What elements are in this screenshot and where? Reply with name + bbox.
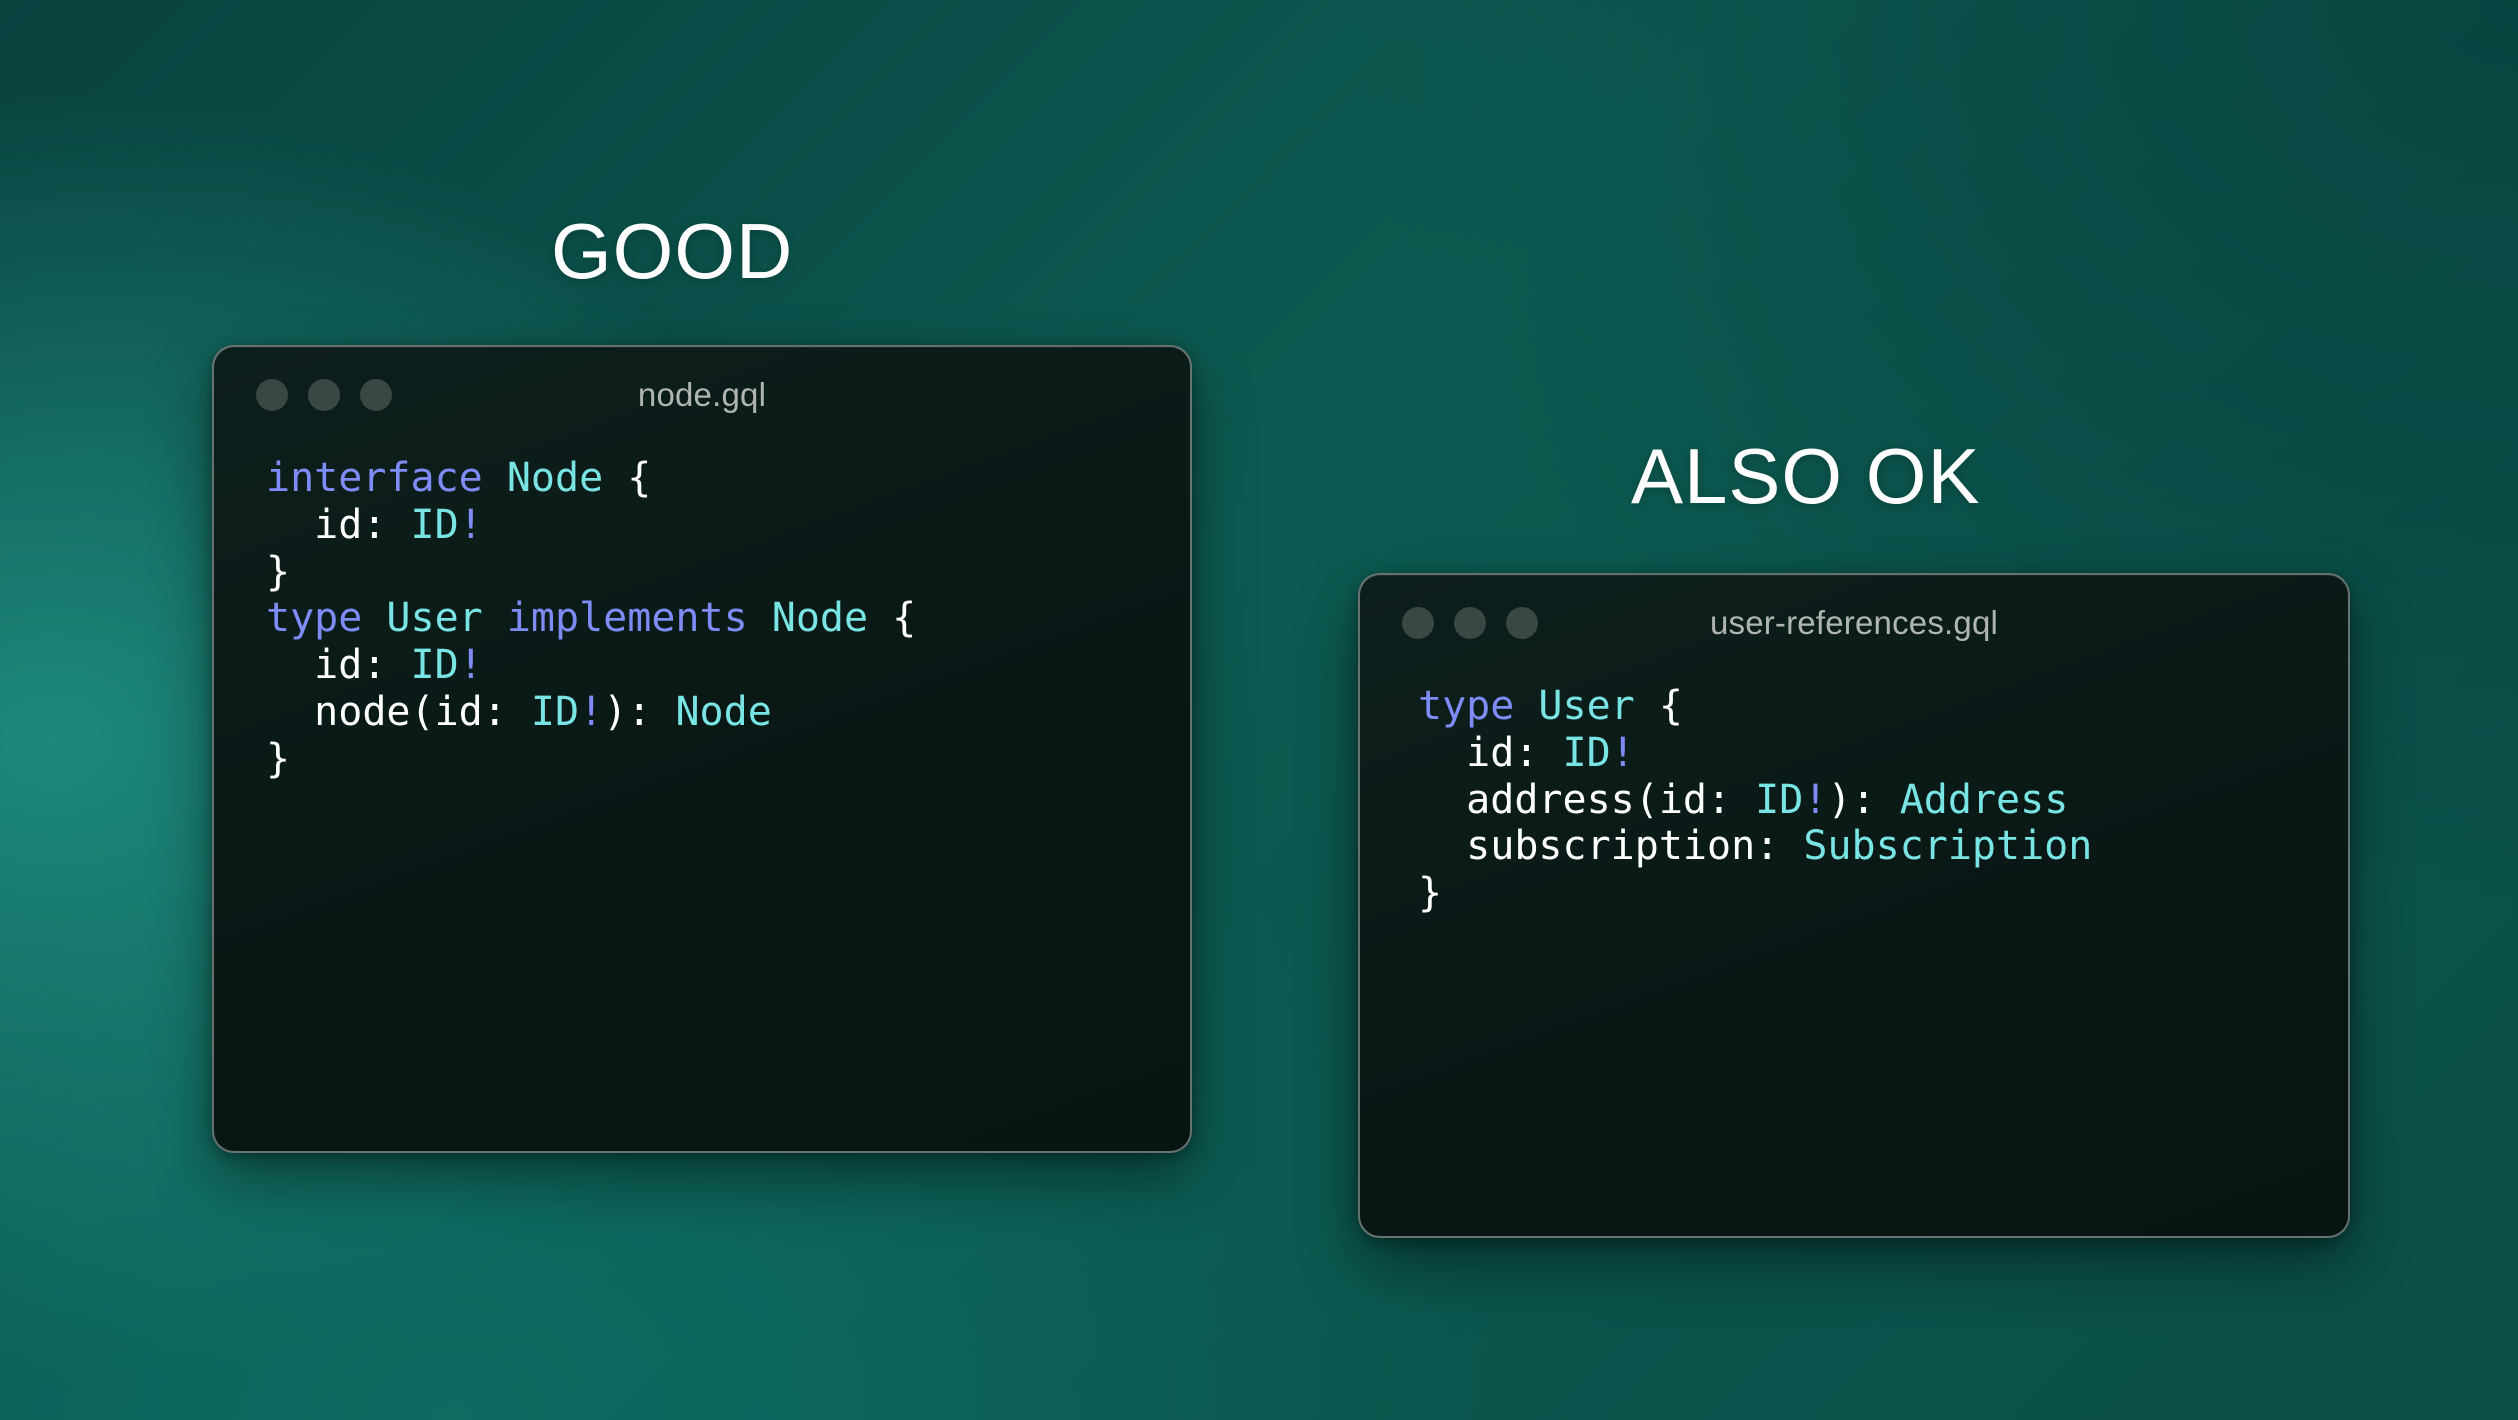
code-token-name: address(id: (1466, 777, 1731, 823)
code-token-punc: { (603, 455, 651, 501)
code-token-kw: type (1418, 683, 1514, 729)
code-token-bang: ! (459, 642, 483, 688)
window-dot-maximize-icon[interactable] (1506, 607, 1538, 639)
code-line: id: ID! (266, 642, 1190, 689)
heading-also-ok: ALSO OK (1631, 437, 1980, 515)
code-line: subscription: Subscription (1418, 823, 2348, 870)
code-token-punc (1514, 683, 1538, 729)
code-block-also-ok: type User { id: ID! address(id: ID!): Ad… (1360, 671, 2348, 917)
code-token-type: ID (411, 642, 459, 688)
code-card-titlebar: node.gql (214, 347, 1190, 443)
code-token-punc (748, 595, 772, 641)
window-dot-minimize-icon[interactable] (1454, 607, 1486, 639)
code-token-punc (651, 689, 675, 735)
code-token-name: node(id: (314, 689, 507, 735)
code-token-punc (266, 502, 314, 548)
code-token-type: Node (675, 689, 771, 735)
code-card-also-ok: user-references.gql type User { id: ID! … (1358, 573, 2350, 1238)
code-line: id: ID! (1418, 730, 2348, 777)
code-token-type: Address (1900, 777, 2069, 823)
heading-good: GOOD (551, 212, 793, 290)
window-dot-close-icon[interactable] (1402, 607, 1434, 639)
code-token-punc (1538, 730, 1562, 776)
code-line: node(id: ID!): Node (266, 689, 1190, 736)
window-dot-close-icon[interactable] (256, 379, 288, 411)
code-token-punc (386, 642, 410, 688)
code-token-name: id: (1466, 730, 1538, 776)
code-token-kw: interface (266, 455, 483, 501)
code-token-punc (483, 455, 507, 501)
code-token-punc: } (266, 549, 290, 595)
code-card-good: node.gql interface Node { id: ID!}type U… (212, 345, 1192, 1153)
code-token-kw: implements (507, 595, 748, 641)
code-token-type: ID (531, 689, 579, 735)
code-line: } (266, 549, 1190, 596)
code-token-name: ): (1827, 777, 1875, 823)
code-token-type: User (386, 595, 482, 641)
code-token-punc: } (266, 736, 290, 782)
code-token-punc (507, 689, 531, 735)
code-token-punc (1876, 777, 1900, 823)
code-token-name: ): (603, 689, 651, 735)
code-token-type: ID (1755, 777, 1803, 823)
code-token-type: ID (411, 502, 459, 548)
code-line: } (266, 736, 1190, 783)
code-token-bang: ! (459, 502, 483, 548)
code-token-bang: ! (579, 689, 603, 735)
code-token-punc (362, 595, 386, 641)
code-token-type: Node (772, 595, 868, 641)
code-token-type: Subscription (1803, 823, 2092, 869)
window-controls (256, 379, 392, 411)
code-token-bang: ! (1611, 730, 1635, 776)
code-token-punc (266, 642, 314, 688)
window-controls (1402, 607, 1538, 639)
code-token-type: ID (1563, 730, 1611, 776)
code-token-punc (1418, 777, 1466, 823)
code-block-good: interface Node { id: ID!}type User imple… (214, 443, 1190, 783)
code-line: id: ID! (266, 502, 1190, 549)
code-token-punc (266, 689, 314, 735)
code-token-name: id: (314, 642, 386, 688)
code-token-punc (483, 595, 507, 641)
code-token-punc (1731, 777, 1755, 823)
code-token-bang: ! (1803, 777, 1827, 823)
code-token-punc: { (1635, 683, 1683, 729)
code-token-type: Node (507, 455, 603, 501)
code-token-name: subscription: (1466, 823, 1779, 869)
code-token-punc (1418, 730, 1466, 776)
code-token-punc: } (1418, 870, 1442, 916)
code-line: } (1418, 870, 2348, 917)
code-token-punc (1779, 823, 1803, 869)
window-dot-maximize-icon[interactable] (360, 379, 392, 411)
code-line: type User implements Node { (266, 595, 1190, 642)
code-line: address(id: ID!): Address (1418, 777, 2348, 824)
code-line: type User { (1418, 683, 2348, 730)
slide-canvas: GOOD node.gql interface Node { id: ID!}t… (0, 0, 2518, 1420)
code-token-punc: { (868, 595, 916, 641)
code-card-titlebar: user-references.gql (1360, 575, 2348, 671)
code-line: interface Node { (266, 455, 1190, 502)
code-token-punc (1418, 823, 1466, 869)
code-token-punc (386, 502, 410, 548)
code-token-type: User (1538, 683, 1634, 729)
code-token-kw: type (266, 595, 362, 641)
code-token-name: id: (314, 502, 386, 548)
window-dot-minimize-icon[interactable] (308, 379, 340, 411)
